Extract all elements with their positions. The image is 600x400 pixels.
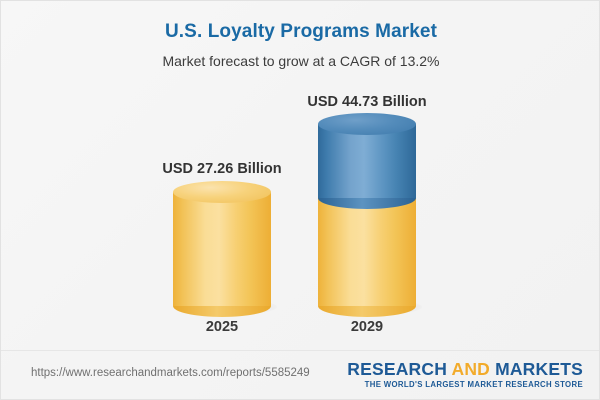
brand-word-markets: MARKETS bbox=[495, 359, 583, 379]
cylinder-top-cap-2029 bbox=[318, 113, 416, 135]
footer: https://www.researchandmarkets.com/repor… bbox=[1, 350, 600, 399]
bar-value-label-2025: USD 27.26 Billion bbox=[118, 161, 326, 177]
x-axis-label-2029: 2029 bbox=[263, 319, 471, 335]
chart-plot-area: USD 27.26 Billion 2025 USD 44.73 Billion bbox=[1, 1, 600, 346]
source-url-link[interactable]: https://www.researchandmarkets.com/repor… bbox=[31, 367, 310, 379]
cylinder-bar-2029-growth[interactable] bbox=[318, 124, 416, 198]
cylinder-top-cap-2025 bbox=[173, 181, 271, 203]
brand-word-research: RESEARCH bbox=[347, 359, 447, 379]
bar-value-label-2029: USD 44.73 Billion bbox=[263, 94, 471, 110]
cylinder-bar-2029-base[interactable] bbox=[318, 198, 416, 306]
brand-word-and: AND bbox=[451, 359, 490, 379]
brand-tagline: THE WORLD'S LARGEST MARKET RESEARCH STOR… bbox=[347, 379, 583, 390]
brand-name: RESEARCH AND MARKETS bbox=[347, 360, 583, 379]
cylinder-body-2029-growth bbox=[318, 124, 416, 198]
cylinder-body-2025 bbox=[173, 192, 271, 306]
infographic-card: U.S. Loyalty Programs Market Market fore… bbox=[0, 0, 600, 400]
cylinder-body-2029-base bbox=[318, 198, 416, 306]
cylinder-bar-2025-base[interactable] bbox=[173, 192, 271, 306]
brand-logo[interactable]: RESEARCH AND MARKETS THE WORLD'S LARGEST… bbox=[347, 360, 583, 390]
